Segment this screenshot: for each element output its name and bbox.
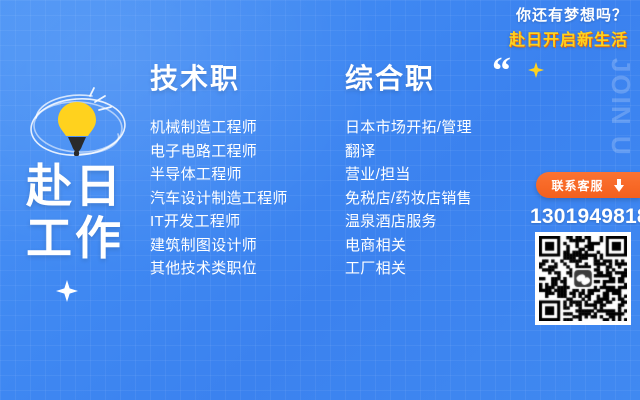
page-title-line-2: 工作	[26, 212, 124, 264]
list-item: 机械制造工程师	[150, 116, 330, 140]
column-technical: 技术职 机械制造工程师 电子电路工程师 半导体工程师 汽车设计制造工程师 IT开…	[150, 62, 330, 281]
contact-support-label: 联系客服	[551, 177, 603, 194]
list-item: 电子电路工程师	[150, 140, 330, 164]
page-title: 赴日 工作	[26, 160, 124, 264]
list-item: 建筑制图设计师	[150, 234, 330, 258]
join-us-watermark: JOIN U	[604, 58, 638, 188]
column-heading-technical: 技术职	[150, 62, 330, 96]
list-item: 日本市场开拓/管理	[345, 116, 530, 140]
page-title-line-1: 赴日	[26, 160, 124, 212]
list-item: 其他技术类职位	[150, 257, 330, 281]
slogan-line-1: 你还有梦想吗？	[509, 6, 628, 26]
contact-support-button[interactable]: 联系客服	[536, 172, 640, 198]
star-white-icon	[56, 280, 78, 302]
job-list-technical: 机械制造工程师 电子电路工程师 半导体工程师 汽车设计制造工程师 IT开发工程师…	[150, 116, 330, 281]
list-item: 营业/担当	[345, 163, 530, 187]
column-general: 综合职 日本市场开拓/管理 翻译 营业/担当 免税店/药妆店销售 温泉酒店服务 …	[345, 62, 530, 281]
qr-code[interactable]	[535, 232, 631, 325]
list-item: 免税店/药妆店销售	[345, 187, 530, 211]
job-list-general: 日本市场开拓/管理 翻译 营业/担当 免税店/药妆店销售 温泉酒店服务 电商相关…	[345, 116, 530, 281]
promo-poster: JOIN U 你还有梦想吗？ 赴日开启新生活 “	[0, 0, 640, 400]
lightbulb-illustration	[22, 82, 134, 168]
star-yellow-icon	[528, 62, 544, 78]
list-item: 翻译	[345, 140, 530, 164]
list-item: 温泉酒店服务	[345, 210, 530, 234]
slogan-line-2: 赴日开启新生活	[509, 31, 628, 51]
arrow-down-icon	[614, 179, 625, 192]
list-item: 工厂相关	[345, 257, 530, 281]
qr-code-canvas	[539, 236, 627, 321]
slogan-block: 你还有梦想吗？ 赴日开启新生活	[509, 6, 628, 51]
list-item: IT开发工程师	[150, 210, 330, 234]
list-item: 半导体工程师	[150, 163, 330, 187]
column-heading-general: 综合职	[345, 62, 530, 96]
list-item: 电商相关	[345, 234, 530, 258]
list-item: 汽车设计制造工程师	[150, 187, 330, 211]
phone-number[interactable]: 13019498186	[530, 205, 640, 229]
